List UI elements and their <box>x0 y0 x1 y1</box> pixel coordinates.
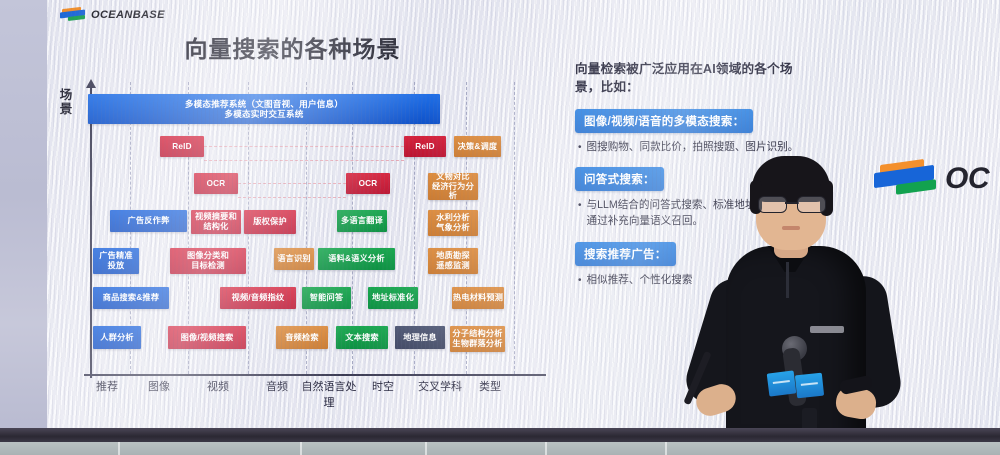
chart-box-r7-2[interactable]: 图像/视频搜索 <box>168 326 246 349</box>
chart-box-label-line: 图像分类和 <box>187 251 229 261</box>
chart-box-r3-3[interactable]: 文物对比经济行为分析 <box>428 173 478 200</box>
chart-y-axis <box>90 86 92 378</box>
chart-box-label-line: 气象分析 <box>436 223 470 233</box>
chart-connector-2 <box>238 183 346 184</box>
chart-box-r3-1[interactable]: OCR <box>194 173 238 194</box>
chart-box-label-line: 生物群落分析 <box>452 339 502 349</box>
chart-box-label-line: OCR <box>207 179 226 189</box>
chart-box-r6-3[interactable]: 智能问答 <box>302 287 351 309</box>
chart-box-r4-5[interactable]: 水利分析气象分析 <box>428 210 478 236</box>
chart-y-axis-label: 场景 <box>58 88 74 116</box>
chart-box-r3-2[interactable]: OCR <box>346 173 390 194</box>
chart-box-label-line: 版权保护 <box>253 217 287 227</box>
x-tick-1: 推荐 <box>77 378 137 394</box>
wall-left-panel <box>0 0 47 432</box>
chart-box-label-line: 决策&调度 <box>458 142 498 152</box>
chart-box-label-line: ReID <box>415 142 434 152</box>
chart-gridline <box>514 82 515 374</box>
chart-box-r5-5[interactable]: 地质勘探遥感监测 <box>428 248 478 274</box>
presenter-mouth <box>782 226 800 230</box>
chart-box-r6-1[interactable]: 商品搜索&推荐 <box>93 287 169 309</box>
chart-box-label-line: 遥感监测 <box>436 261 470 271</box>
chart-box-r4-1[interactable]: 广告反作弊 <box>110 210 187 232</box>
chart-box-label-line: 目标检测 <box>187 261 229 271</box>
chart-box-r2-3[interactable]: 决策&调度 <box>454 136 501 157</box>
x-tick-2: 图像 <box>129 378 189 394</box>
presenter-shirt-logo <box>810 326 844 333</box>
chart-connector-2-lower <box>238 197 346 198</box>
chart-box-label-line: 结构化 <box>195 222 237 232</box>
scenario-card-1: 图像/视频/语音的多模态搜索： • 图搜购物、同款比价，拍照搜题、图片识别。 <box>575 109 807 156</box>
chart-box-r5-4[interactable]: 语料&语义分析 <box>318 248 395 270</box>
chart-box-label-line: 热电材料预测 <box>453 293 503 303</box>
scenario-card-3-text: 相似推荐、个性化搜索 <box>587 273 693 289</box>
chart-box-label-line: 文本搜索 <box>345 333 379 343</box>
chart-box-r2-1[interactable]: ReID <box>160 136 204 157</box>
chart-box-r7-4[interactable]: 文本搜索 <box>336 326 388 349</box>
chart-box-label-line: 地理信息 <box>403 333 437 343</box>
chart-box-r6-4[interactable]: 地址标准化 <box>368 287 418 309</box>
scenario-card-2-heading: 问答式搜索： <box>575 167 664 191</box>
scenario-card-3-bullet-icon: • <box>578 273 582 289</box>
x-tick-6: 时空 <box>353 378 413 394</box>
slide-title: 向量搜索的各种场景 <box>0 30 585 64</box>
chart-box-label-line: 经济行为分析 <box>428 182 478 201</box>
x-tick-3: 视频 <box>188 378 248 394</box>
oceanbase-logo: OCEANBASE <box>60 8 165 21</box>
mic-flag-right <box>795 373 824 399</box>
chart-box-r7-3[interactable]: 音频检索 <box>276 326 328 349</box>
x-tick-8: 类型 <box>460 378 520 394</box>
screenshot-stage: OCEANBASE 向量搜索的各种场景 场景 多模态推荐系统（文图音视、用户信息… <box>0 0 1000 455</box>
chart-box-label-line: 多模态推荐系统（文图音视、用户信息） <box>185 99 343 109</box>
chart-box-r5-2[interactable]: 图像分类和目标检测 <box>170 248 246 274</box>
chart-box-label-line: ReID <box>172 142 191 152</box>
scenario-card-3-heading: 搜索推荐广告： <box>575 242 676 266</box>
chart-box-label-line: 视频摘要和 <box>195 212 237 222</box>
presenter-placket <box>786 262 789 298</box>
x-tick-4: 音频 <box>247 378 307 394</box>
chart-box-r7-6[interactable]: 分子结构分析生物群落分析 <box>450 326 505 352</box>
chart-box-label-line: 语言识别 <box>277 254 311 264</box>
chart-box-label-line: 投放 <box>99 261 133 271</box>
chart-connector-1 <box>204 146 404 147</box>
chart-box-label-line: 文物对比 <box>428 172 478 182</box>
chart-box-r6-5[interactable]: 热电材料预测 <box>452 287 504 309</box>
x-tick-5: 自然语言处理 <box>299 378 359 410</box>
chart-box-label-line: 地质勘探 <box>436 251 470 261</box>
chart-box-label-line: 地址标准化 <box>372 293 414 303</box>
chart-box-label-line: 多模态实时交互系统 <box>185 109 343 119</box>
chart-box-label-line: 人群分析 <box>100 333 134 343</box>
chart-box-r6-2[interactable]: 视频/音频指纹 <box>220 287 296 309</box>
chart-box-label-line: 多语言翻译 <box>341 216 383 226</box>
chart-box-label-line: 分子结构分析 <box>452 329 502 339</box>
presenter-glasses-icon <box>758 196 826 211</box>
chart-box-r7-1[interactable]: 人群分析 <box>93 326 141 349</box>
chart-connector-1-lower <box>204 160 404 161</box>
chart-box-label-line: 广告精准 <box>99 251 133 261</box>
chart-box-label-line: 音频检索 <box>285 333 319 343</box>
chart-box-label-line: 智能问答 <box>310 293 344 303</box>
chart-box-label-line: 视频/音频指纹 <box>232 293 285 303</box>
wall-oceanbase-wordmark: OC <box>945 162 989 196</box>
chart-box-r5-1[interactable]: 广告精准投放 <box>93 248 139 274</box>
chart-box-r5-3[interactable]: 语言识别 <box>274 248 314 270</box>
scenario-card-2-bullet-icon: • <box>578 198 582 230</box>
mic-flag-left <box>767 370 797 396</box>
scenario-card-1-heading: 图像/视频/语音的多模态搜索： <box>575 109 753 133</box>
chart-box-r4-2[interactable]: 视频摘要和结构化 <box>191 210 241 234</box>
panel-lead-text: 向量检索被广泛应用在AI领域的各个场景，比如： <box>575 60 807 97</box>
oceanbase-mark-icon <box>60 8 86 21</box>
chart-box-label-line: 水利分析 <box>436 213 470 223</box>
chart-box-label-line: OCR <box>359 179 378 189</box>
scenario-card-1-bullet-icon: • <box>578 140 582 156</box>
chart-box-label-line: 商品搜索&推荐 <box>103 293 159 303</box>
chart-box-r4-3[interactable]: 版权保护 <box>244 210 296 234</box>
chart-box-label-line: 图像/视频搜索 <box>181 333 234 343</box>
chart-box-label-line: 广告反作弊 <box>128 216 170 226</box>
chart-box-r4-4[interactable]: 多语言翻译 <box>337 210 387 232</box>
scenario-matrix-chart: 场景 多模态推荐系统（文图音视、用户信息）多模态实时交互系统ReIDReID决策… <box>52 78 552 383</box>
chart-x-axis <box>84 374 546 376</box>
presenter <box>690 150 900 455</box>
chart-box-label-line: 语料&语义分析 <box>328 254 384 264</box>
chart-box-r7-5[interactable]: 地理信息 <box>395 326 445 349</box>
chart-box-r1-1[interactable]: 多模态推荐系统（文图音视、用户信息）多模态实时交互系统 <box>88 94 440 124</box>
stage-base <box>0 442 1000 455</box>
stage-rail <box>0 428 1000 442</box>
chart-box-r2-2[interactable]: ReID <box>404 136 446 157</box>
oceanbase-wordmark: OCEANBASE <box>91 9 165 21</box>
